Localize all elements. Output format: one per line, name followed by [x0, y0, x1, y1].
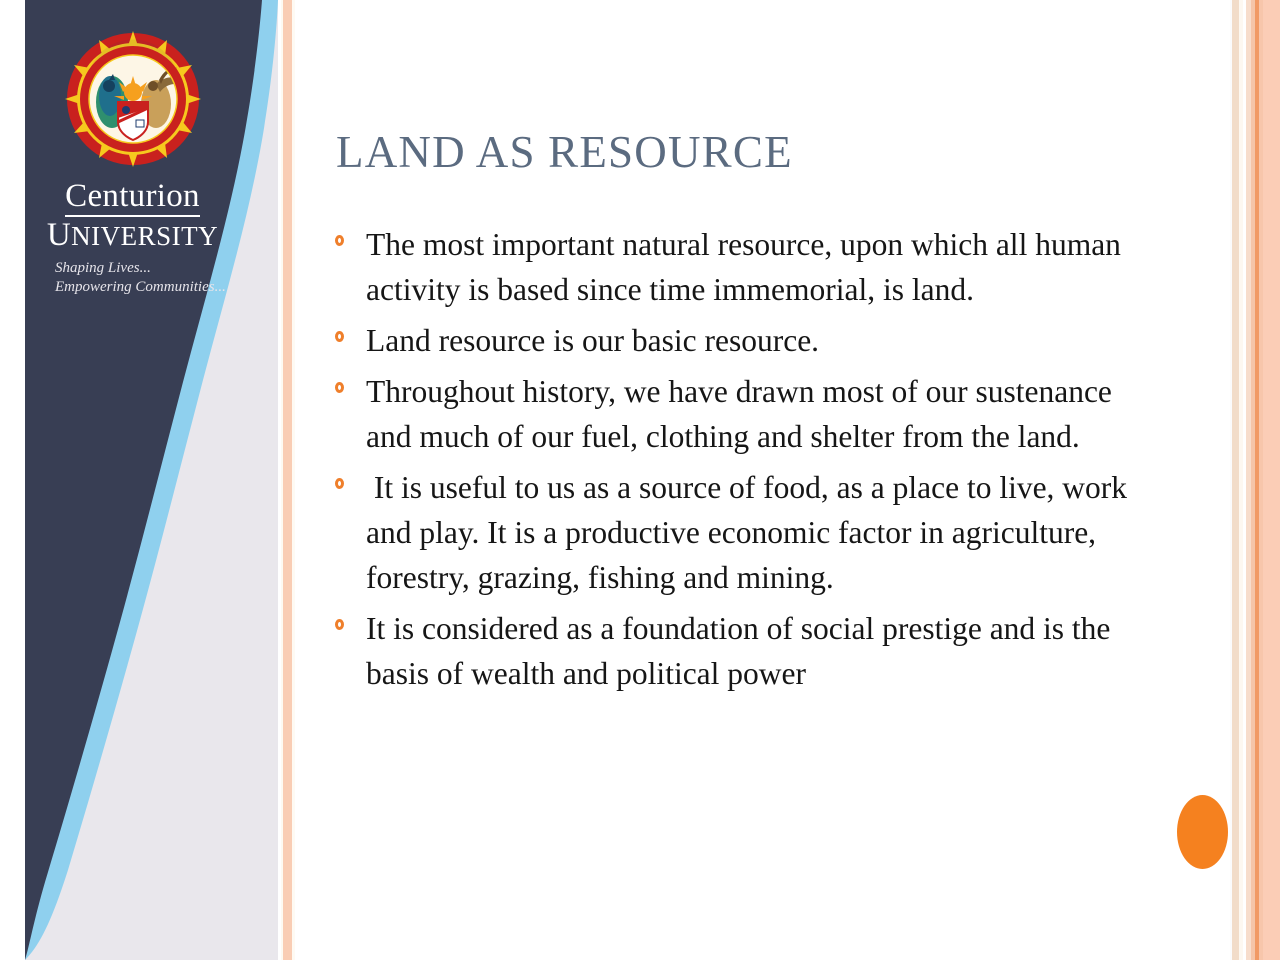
university-logo-block: Centurion UNIVERSITY Shaping Lives... Em… [25, 30, 240, 297]
bullet-ring-icon [335, 478, 344, 489]
brand-tagline: Shaping Lives... Empowering Communities.… [25, 259, 240, 297]
bullet-item: Throughout history, we have drawn most o… [330, 369, 1160, 459]
brand-subtitle-rest: NIVERSITY [71, 221, 218, 251]
right-accent-stripes [1230, 0, 1280, 960]
bullet-item: It is considered as a foundation of soci… [330, 606, 1160, 696]
bullet-item: It is useful to us as a source of food, … [330, 465, 1160, 600]
bullet-list: The most important natural resource, upo… [330, 222, 1160, 702]
bullet-text: Throughout history, we have drawn most o… [366, 369, 1160, 459]
bullet-text: The most important natural resource, upo… [366, 222, 1160, 312]
slide-title: LAND AS RESOURCE [336, 127, 793, 177]
brand-tagline-line-1: Shaping Lives... [55, 259, 240, 278]
bullet-ring-icon [335, 619, 344, 630]
brand-subtitle-cap: U [47, 217, 71, 253]
brand-name: Centurion [65, 178, 200, 217]
bullet-text: Land resource is our basic resource. [366, 318, 1160, 363]
sidebar-branding-panel: Centurion UNIVERSITY Shaping Lives... Em… [0, 0, 278, 960]
bullet-item: The most important natural resource, upo… [330, 222, 1160, 312]
bullet-text: It is considered as a foundation of soci… [366, 606, 1160, 696]
bullet-ring-icon [335, 331, 344, 342]
bullet-ring-icon [335, 382, 344, 393]
university-crest-icon [64, 30, 202, 168]
bullet-text: It is useful to us as a source of food, … [366, 465, 1160, 600]
slide-content: LAND AS RESOURCE The most important natu… [300, 0, 1230, 960]
presentation-slide: Centurion UNIVERSITY Shaping Lives... Em… [0, 0, 1280, 960]
bullet-item: Land resource is our basic resource. [330, 318, 1160, 363]
bullet-ring-icon [335, 235, 344, 246]
brand-tagline-line-2: Empowering Communities... [55, 278, 240, 297]
left-accent-stripes [278, 0, 300, 960]
brand-subtitle: UNIVERSITY [25, 220, 240, 251]
